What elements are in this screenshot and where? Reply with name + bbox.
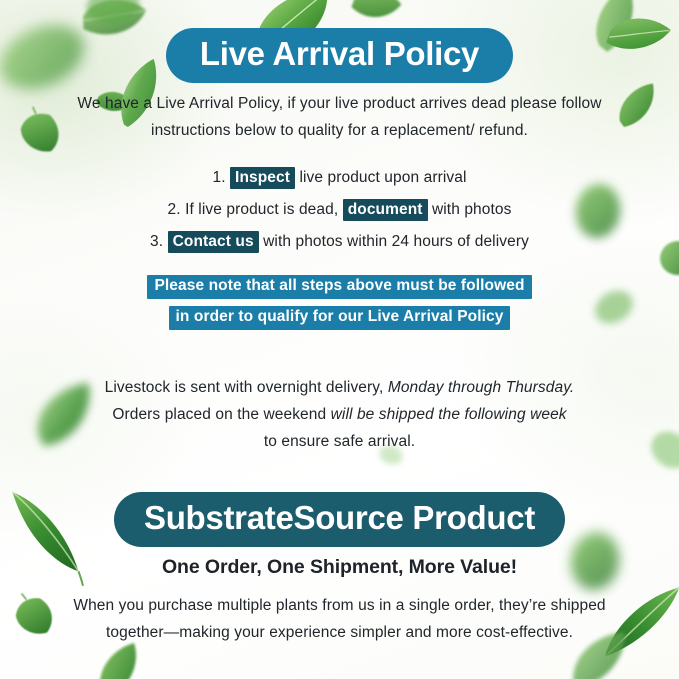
intro-line-1: We have a Live Arrival Policy, if your l… [0, 90, 679, 117]
step-highlight-contact-us: Contact us [168, 231, 259, 253]
note-line-2-wrap: in order to qualify for our Live Arrival… [0, 306, 679, 330]
shipping-line-1-emphasis: Monday through Thursday. [388, 379, 575, 396]
shipping-line-3: to ensure safe arrival. [0, 428, 679, 455]
step-number: 2. [168, 201, 181, 218]
policy-note-block: Please note that all steps above must be… [0, 275, 679, 330]
step-number: 1. [212, 169, 225, 186]
list-item: 1. Inspect live product upon arrival [0, 162, 679, 194]
value-proposition-subhead: One Order, One Shipment, More Value! [0, 556, 679, 579]
shipping-line-2: Orders placed on the weekend will be shi… [0, 401, 679, 428]
note-line-2: in order to qualify for our Live Arrival… [169, 306, 511, 330]
live-arrival-policy-infographic: Live Arrival Policy We have a Live Arriv… [0, 0, 679, 679]
note-line-1: Please note that all steps above must be… [147, 275, 531, 299]
step-text-pre: If live product is dead, [185, 201, 338, 218]
intro-line-2: instructions below to quality for a repl… [0, 117, 679, 144]
list-item: 3. Contact us with photos within 24 hour… [0, 226, 679, 258]
step-highlight-document: document [343, 199, 428, 221]
substrate-source-paragraph: When you purchase multiple plants from u… [0, 592, 679, 646]
shipping-line-2-text: Orders placed on the weekend [112, 406, 330, 423]
note-line-1-wrap: Please note that all steps above must be… [0, 275, 679, 299]
shipping-line-1-text: Livestock is sent with overnight deliver… [105, 379, 388, 396]
list-item: 2. If live product is dead, document wit… [0, 194, 679, 226]
step-number: 3. [150, 233, 163, 250]
step-highlight-inspect: Inspect [230, 167, 295, 189]
step-text: live product upon arrival [299, 169, 466, 186]
live-arrival-policy-banner: Live Arrival Policy [166, 28, 513, 83]
steps-list: 1. Inspect live product upon arrival 2. … [0, 162, 679, 257]
content-layer: Live Arrival Policy We have a Live Arriv… [0, 0, 679, 679]
intro-paragraph: We have a Live Arrival Policy, if your l… [0, 90, 679, 144]
substrate-body-line-1: When you purchase multiple plants from u… [0, 592, 679, 619]
shipping-paragraph: Livestock is sent with overnight deliver… [0, 374, 679, 455]
step-text: with photos [432, 201, 512, 218]
substrate-source-product-banner: SubstrateSource Product [114, 492, 565, 547]
shipping-line-2-emphasis: will be shipped the following week [331, 406, 567, 423]
step-text: with photos within 24 hours of delivery [263, 233, 529, 250]
substrate-body-line-2: together—making your experience simpler … [0, 619, 679, 646]
substrate-source-banner-wrap: SubstrateSource Product [0, 492, 679, 547]
shipping-line-1: Livestock is sent with overnight deliver… [0, 374, 679, 401]
live-arrival-banner-wrap: Live Arrival Policy [0, 28, 679, 83]
